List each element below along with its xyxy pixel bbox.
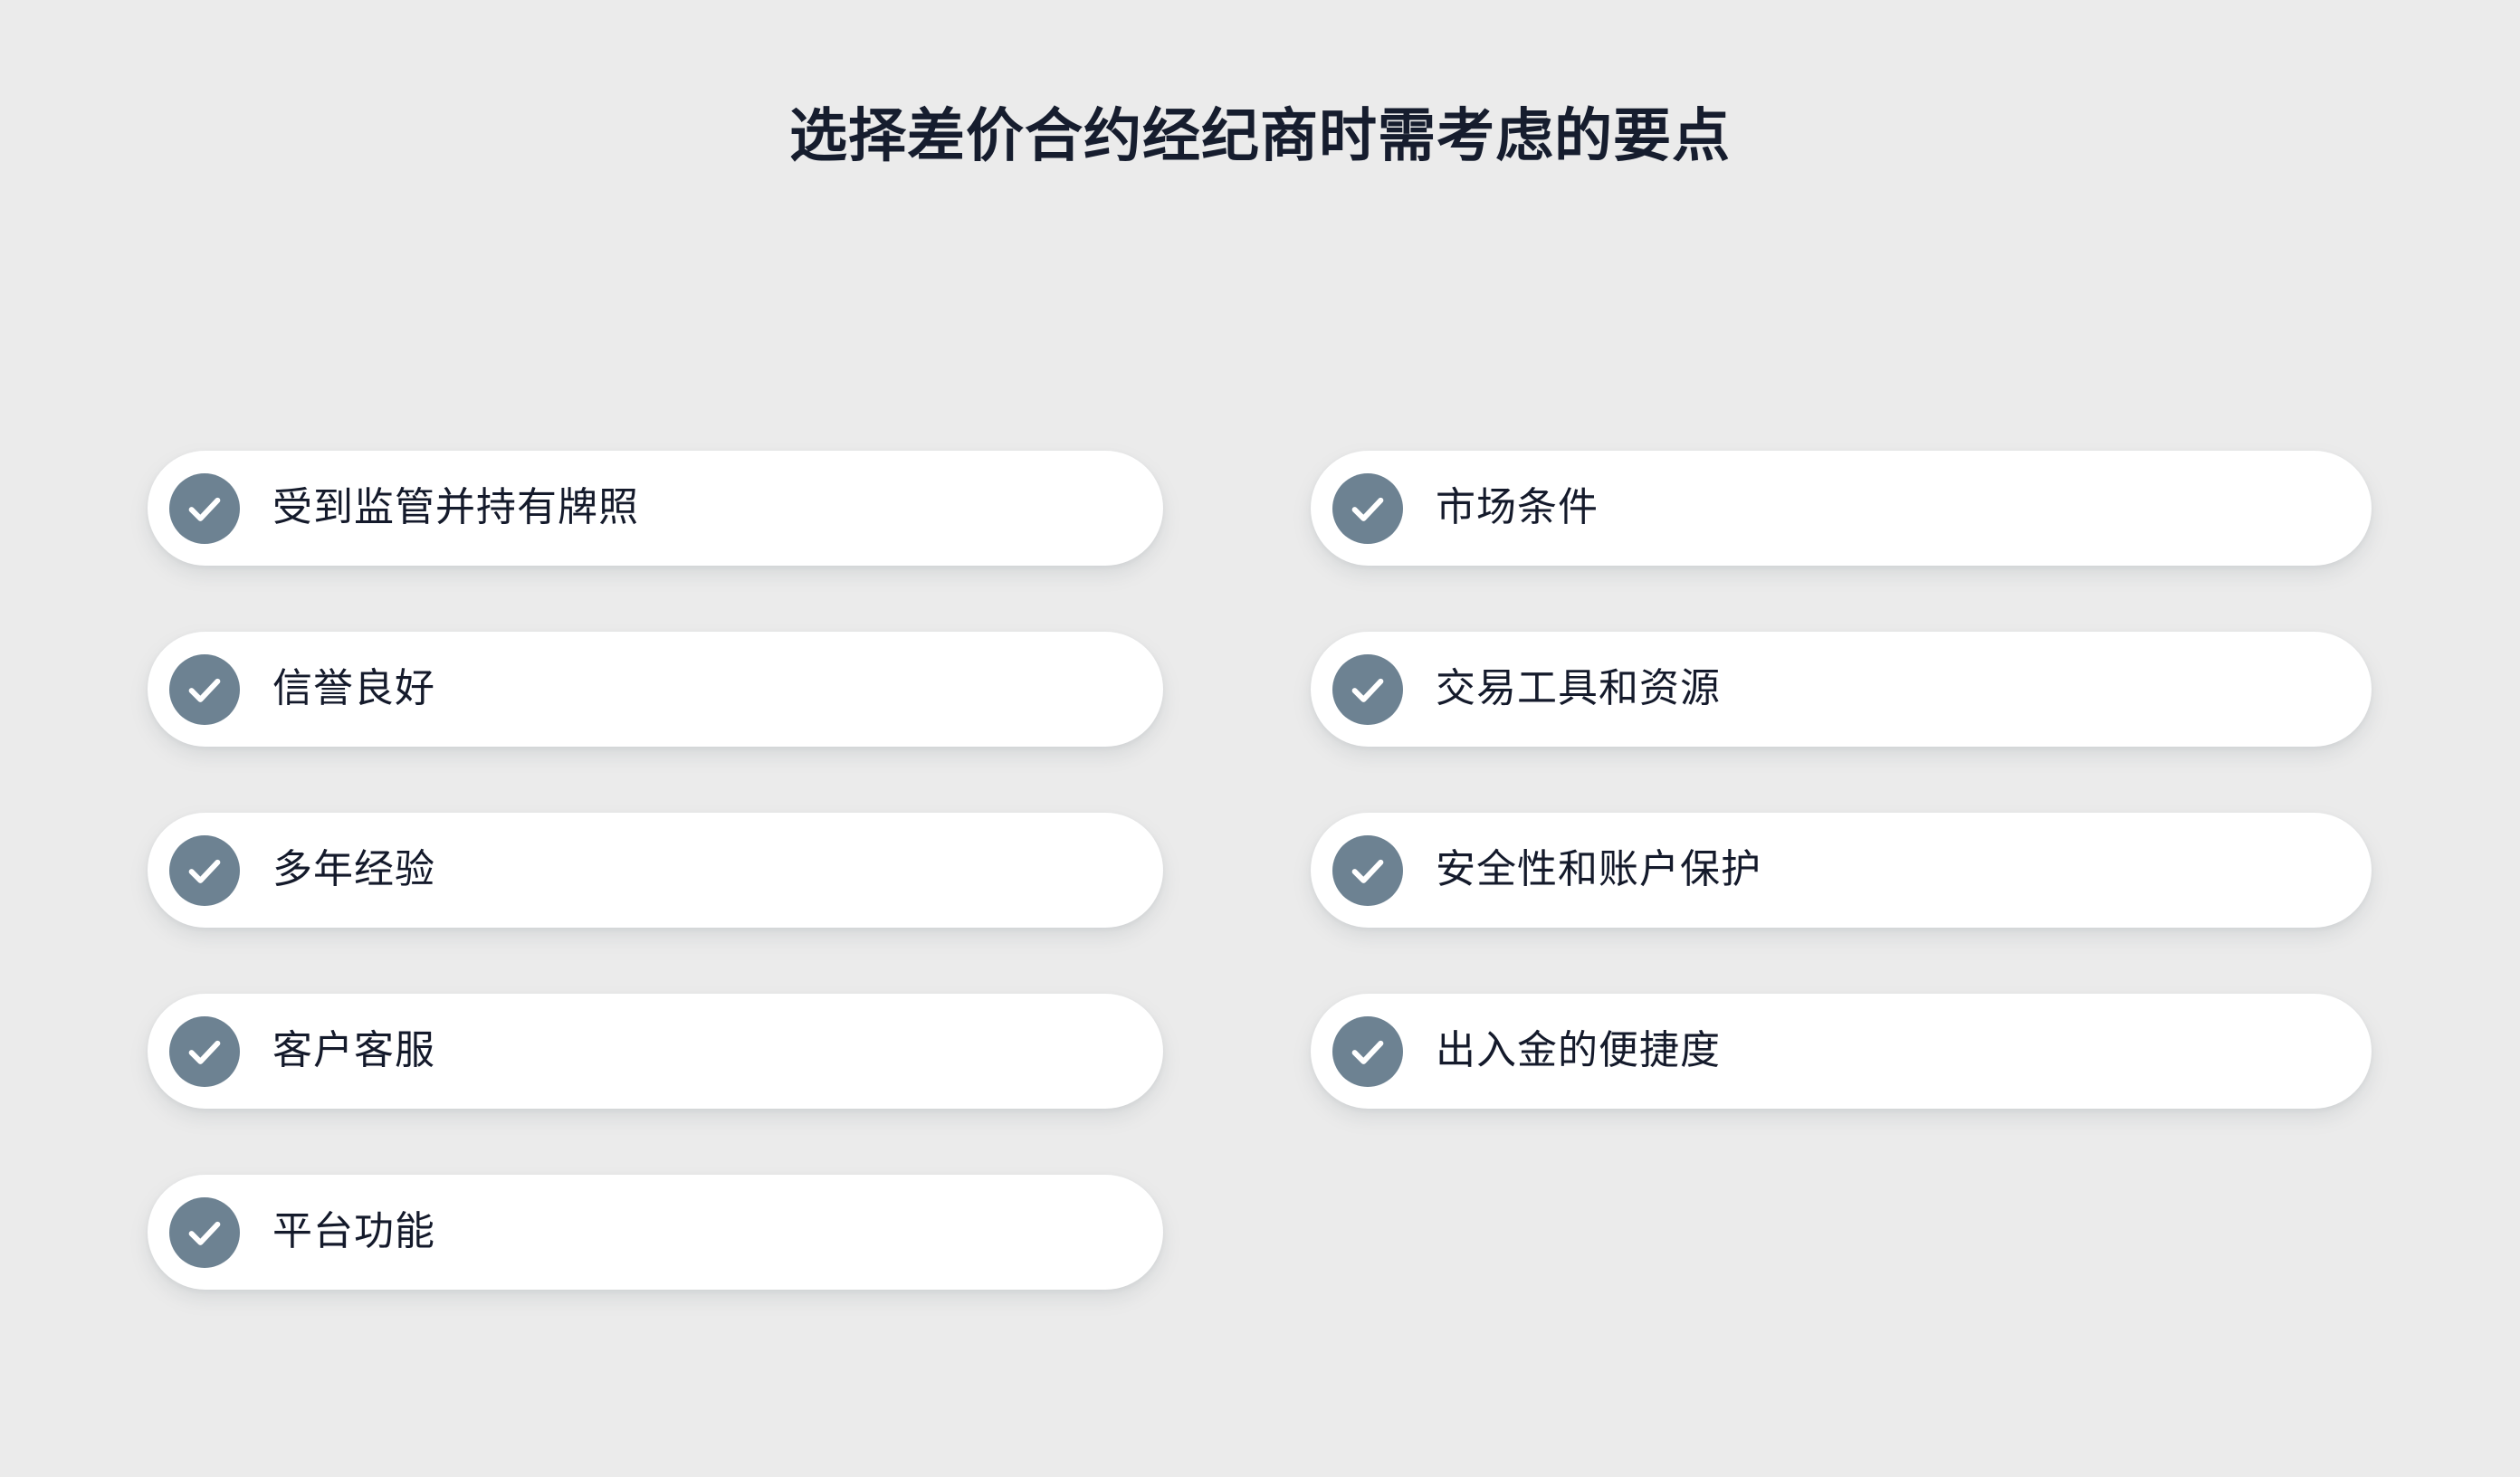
checklist-card[interactable]: 客户客服 [148, 994, 1163, 1109]
check-icon [169, 1197, 240, 1268]
checklist-card[interactable]: 多年经验 [148, 813, 1163, 928]
checklist-card[interactable]: 市场条件 [1311, 451, 2372, 566]
checklist-card-label: 多年经验 [272, 847, 435, 893]
checklist-card-label: 市场条件 [1436, 485, 1599, 531]
check-icon [169, 654, 240, 725]
checklist-card[interactable]: 信誉良好 [148, 632, 1163, 747]
checklist-card-label: 受到监管并持有牌照 [272, 485, 639, 531]
checklist-card[interactable]: 受到监管并持有牌照 [148, 451, 1163, 566]
checklist-columns: 受到监管并持有牌照 信誉良好 多年经验 [148, 451, 2372, 1290]
title-container: 选择差价合约经纪商时需考虑的要点 [0, 0, 2520, 272]
check-icon [1332, 835, 1403, 906]
check-icon [169, 835, 240, 906]
checklist-card[interactable]: 安全性和账户保护 [1311, 813, 2372, 928]
check-icon [1332, 473, 1403, 544]
infographic-root: 选择差价合约经纪商时需考虑的要点 受到监管并持有牌照 信誉良好 [0, 0, 2520, 1477]
check-icon [169, 1016, 240, 1087]
check-icon [169, 473, 240, 544]
check-icon [1332, 1016, 1403, 1087]
left-column: 受到监管并持有牌照 信誉良好 多年经验 [148, 451, 1163, 1290]
page-title: 选择差价合约经纪商时需考虑的要点 [789, 101, 1731, 171]
check-icon [1332, 654, 1403, 725]
checklist-card[interactable]: 平台功能 [148, 1175, 1163, 1290]
checklist-card[interactable]: 出入金的便捷度 [1311, 994, 2372, 1109]
checklist-card-label: 交易工具和资源 [1436, 666, 1721, 712]
checklist-card-label: 客户客服 [272, 1028, 435, 1074]
checklist-card-label: 平台功能 [272, 1209, 435, 1255]
checklist-card[interactable]: 交易工具和资源 [1311, 632, 2372, 747]
right-column: 市场条件 交易工具和资源 安全性和账户保护 [1311, 451, 2372, 1290]
checklist-card-label: 出入金的便捷度 [1436, 1028, 1721, 1074]
checklist-card-label: 安全性和账户保护 [1436, 847, 1761, 893]
checklist-card-label: 信誉良好 [272, 666, 435, 712]
